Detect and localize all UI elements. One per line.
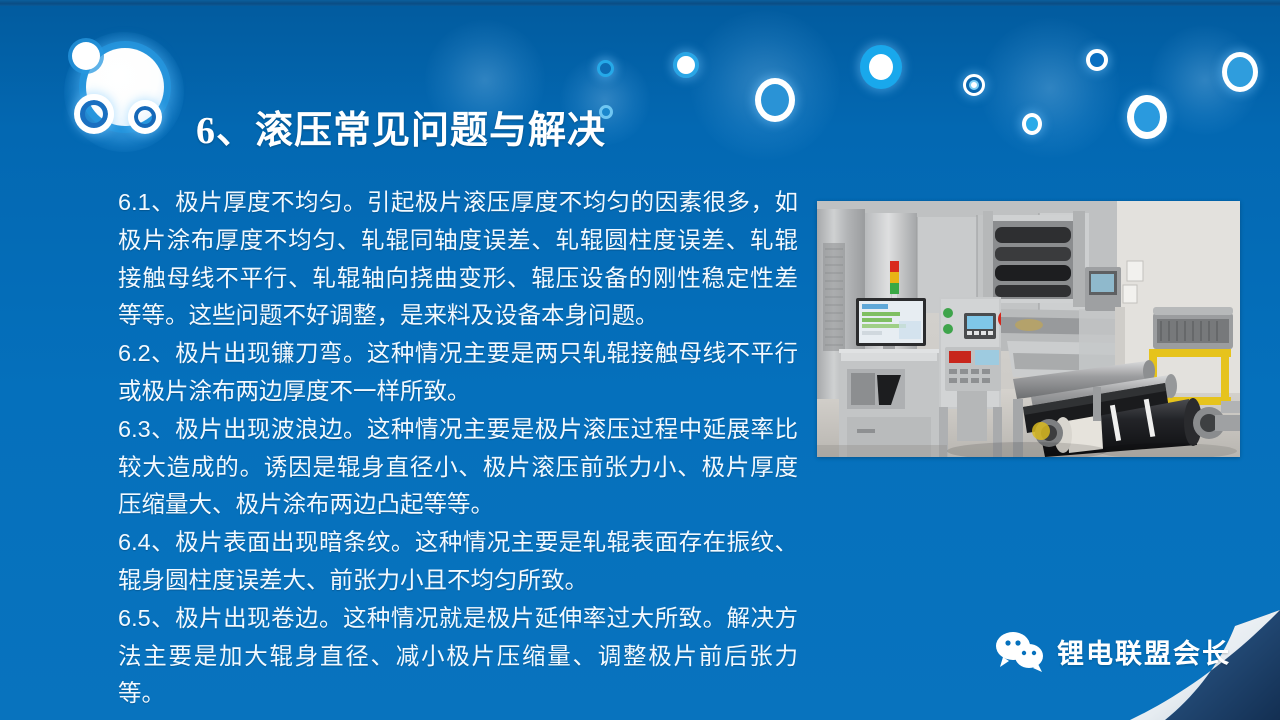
wechat-icon xyxy=(995,630,1045,672)
bubble-logo xyxy=(58,28,198,153)
bubble-ring-1 xyxy=(597,60,614,77)
roll-press-equipment-photo xyxy=(817,201,1240,457)
bubble-ring-4 xyxy=(860,45,902,89)
watermark: 锂电联盟会长 xyxy=(995,630,1231,672)
logo-ring-left xyxy=(74,94,114,134)
bubble-ring-6 xyxy=(1022,113,1042,135)
watermark-text: 锂电联盟会长 xyxy=(1057,632,1231,671)
photo-illustration xyxy=(817,201,1240,457)
header-decoration xyxy=(0,0,1280,175)
paragraph-6-4: 6.4、极片表面出现暗条纹。这种情况主要是轧辊表面存在振纹、辊身圆柱度误差大、前… xyxy=(118,524,798,600)
paragraph-6-2: 6.2、极片出现镰刀弯。这种情况主要是两只轧辊接触母线不平行或极片涂布两边厚度不… xyxy=(118,335,798,411)
bubble-ring-9 xyxy=(1222,52,1258,92)
bubble-ring-5-inner xyxy=(969,80,979,90)
body-content: 6.1、极片厚度不均匀。引起极片滚压厚度不均匀的因素很多，如极片涂布厚度不均匀、… xyxy=(118,184,798,713)
paragraph-6-3: 6.3、极片出现波浪边。这种情况主要是极片滚压过程中延展率比较大造成的。诱因是辊… xyxy=(118,411,798,524)
paragraph-6-1: 6.1、极片厚度不均匀。引起极片滚压厚度不均匀的因素很多，如极片涂布厚度不均匀、… xyxy=(118,184,798,335)
bubble-ring-2 xyxy=(673,52,699,78)
page-title: 6、滚压常见问题与解决 xyxy=(196,112,606,150)
bubble-ring-7 xyxy=(1086,49,1108,71)
slide-canvas: 6、滚压常见问题与解决 6.1、极片厚度不均匀。引起极片滚压厚度不均匀的因素很多… xyxy=(0,0,1280,720)
logo-ring-right xyxy=(128,100,162,134)
paragraph-6-5: 6.5、极片出现卷边。这种情况就是极片延伸率过大所致。解决方法主要是加大辊身直径… xyxy=(118,600,798,713)
glow-blob-3 xyxy=(980,18,1120,158)
bubble-ring-3 xyxy=(755,78,795,122)
logo-small-dot xyxy=(72,42,100,70)
bubble-ring-8 xyxy=(1127,95,1167,139)
